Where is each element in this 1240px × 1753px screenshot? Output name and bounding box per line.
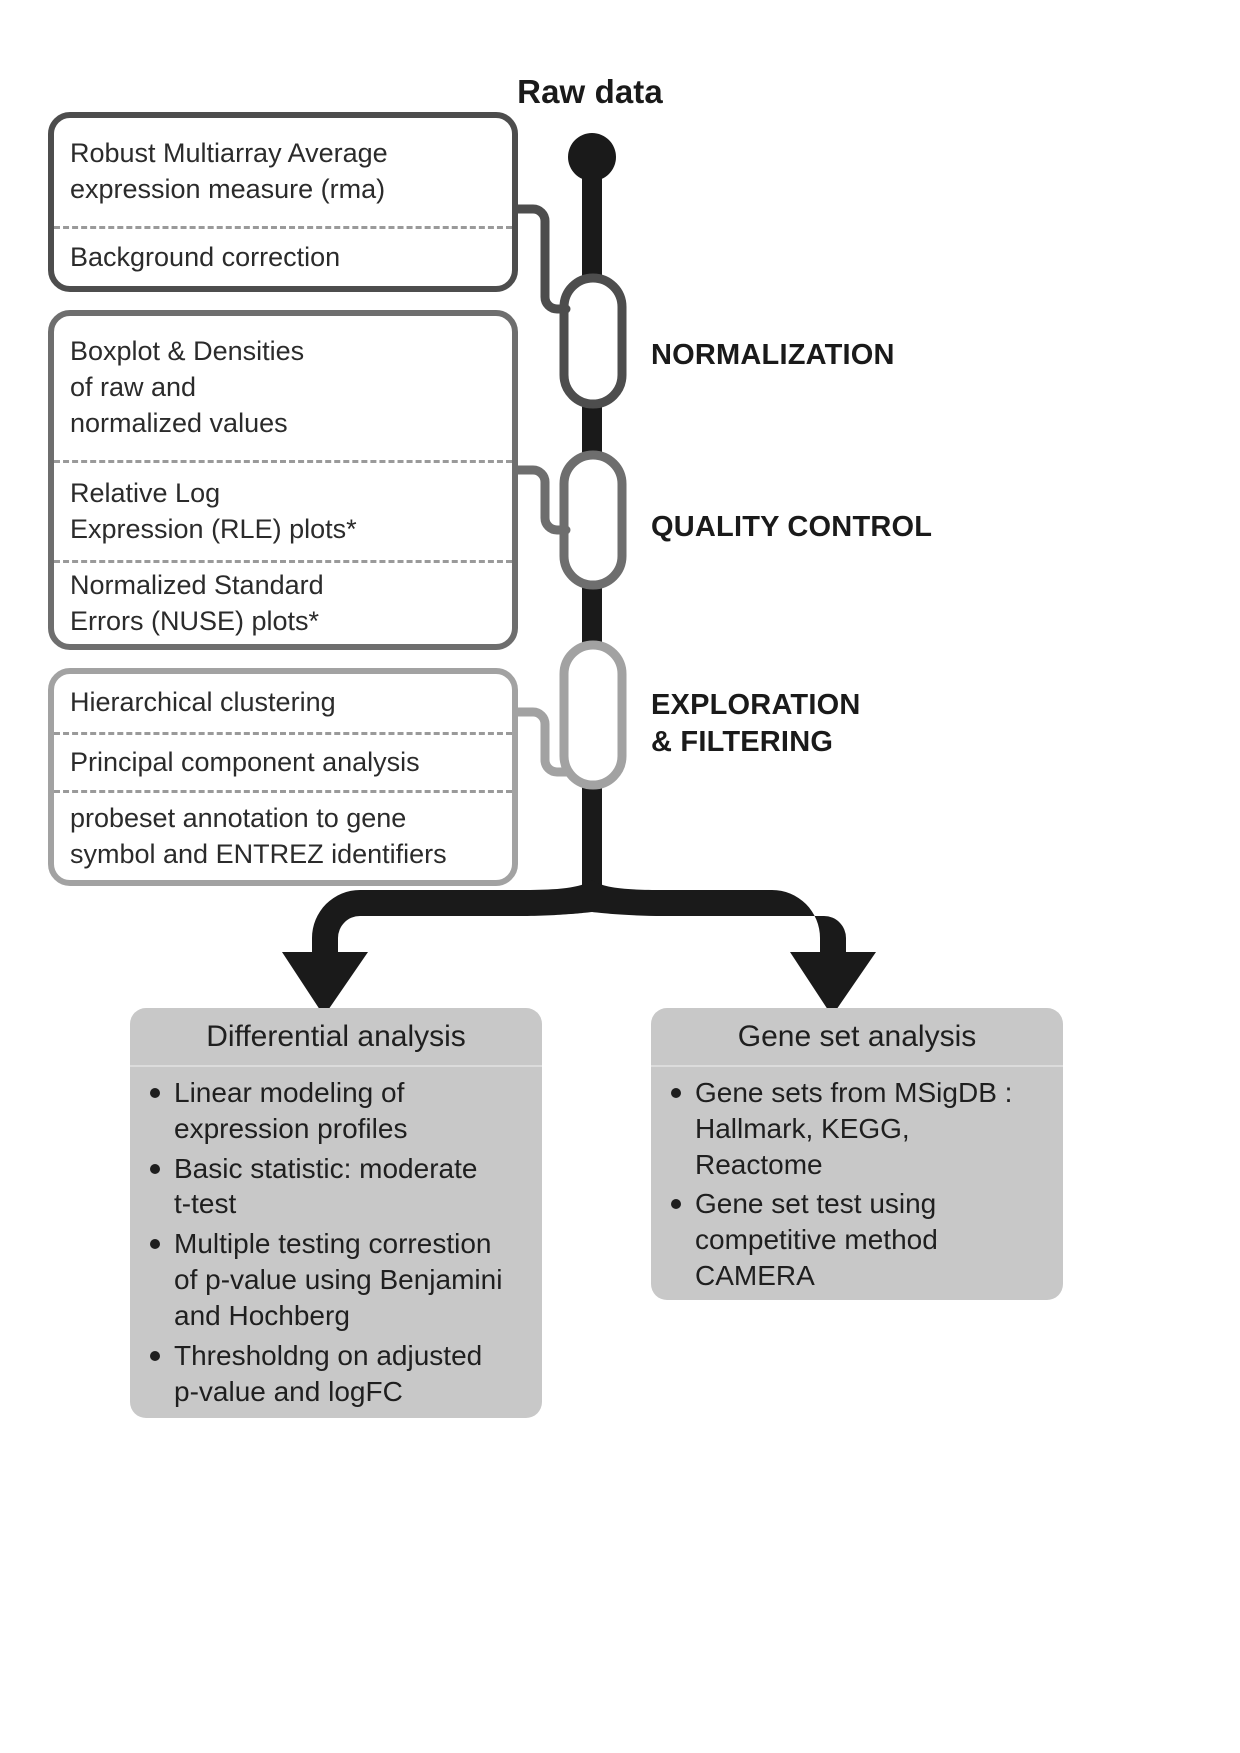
stage-card-exploration-filtering[interactable]: Hierarchical clustering Principal compon… [48,668,518,886]
stage-step: Hierarchical clustering [54,674,512,732]
stage-label-normalization: NORMALIZATION [651,337,895,374]
list-item-label: Linear modeling ofexpression profiles [174,1077,407,1144]
list-item-label: Gene set test usingcompetitive methodCAM… [695,1188,938,1291]
stage-step: Background correction [54,226,512,286]
stage-capsule-exploration[interactable] [564,645,622,785]
bullet-icon [671,1088,681,1098]
stage-card-quality-control[interactable]: Boxplot & Densitiesof raw andnormalized … [48,310,518,650]
panel-list: Linear modeling ofexpression profiles Ba… [130,1067,542,1418]
flowchart-canvas: Raw data Robust Multiarray Averageexpres… [0,0,1240,1753]
stage-step: Principal component analysis [54,732,512,790]
connector-normalization [512,209,566,309]
output-panel-differential-analysis[interactable]: Differential analysis Linear modeling of… [130,1008,542,1418]
page-title: Raw data [440,73,740,111]
stage-step: Robust Multiarray Averageexpression meas… [54,118,512,226]
stage-capsule-quality-control[interactable] [564,455,622,585]
list-item: Basic statistic: moderatet-test [146,1151,528,1223]
panel-title: Differential analysis [130,1008,542,1067]
list-item-label: Thresholdng on adjustedp-value and logFC [174,1340,482,1407]
stage-step: Relative LogExpression (RLE) plots* [54,460,512,560]
bullet-icon [150,1351,160,1361]
list-item: Thresholdng on adjustedp-value and logFC [146,1338,528,1410]
stage-label-quality-control: QUALITY CONTROL [651,509,932,546]
stage-step: Boxplot & Densitiesof raw andnormalized … [54,316,512,460]
list-item: Gene set test usingcompetitive methodCAM… [667,1186,1049,1293]
fork-splitter [282,880,592,1016]
list-item-label: Basic statistic: moderatet-test [174,1153,477,1220]
raw-data-node [568,133,616,181]
list-item: Multiple testing correstionof p-value us… [146,1226,528,1333]
bullet-icon [150,1164,160,1174]
stage-step: Normalized StandardErrors (NUSE) plots* [54,560,512,644]
connector-exploration [512,712,566,772]
stage-card-normalization[interactable]: Robust Multiarray Averageexpression meas… [48,112,518,292]
fork-splitter-right [592,880,876,1016]
output-panel-gene-set-analysis[interactable]: Gene set analysis Gene sets from MSigDB … [651,1008,1063,1300]
stage-step: probeset annotation to genesymbol and EN… [54,790,512,880]
bullet-icon [150,1239,160,1249]
panel-title: Gene set analysis [651,1008,1063,1067]
connector-quality-control [512,470,566,530]
panel-list: Gene sets from MSigDB :Hallmark, KEGG,Re… [651,1067,1063,1300]
bullet-icon [150,1088,160,1098]
stage-capsule-normalization[interactable] [564,278,622,404]
stage-label-exploration-filtering: EXPLORATION& FILTERING [651,687,861,760]
list-item-label: Multiple testing correstionof p-value us… [174,1228,502,1331]
bullet-icon [671,1199,681,1209]
list-item: Linear modeling ofexpression profiles [146,1075,528,1147]
list-item: Gene sets from MSigDB :Hallmark, KEGG,Re… [667,1075,1049,1182]
list-item-label: Gene sets from MSigDB :Hallmark, KEGG,Re… [695,1077,1012,1180]
